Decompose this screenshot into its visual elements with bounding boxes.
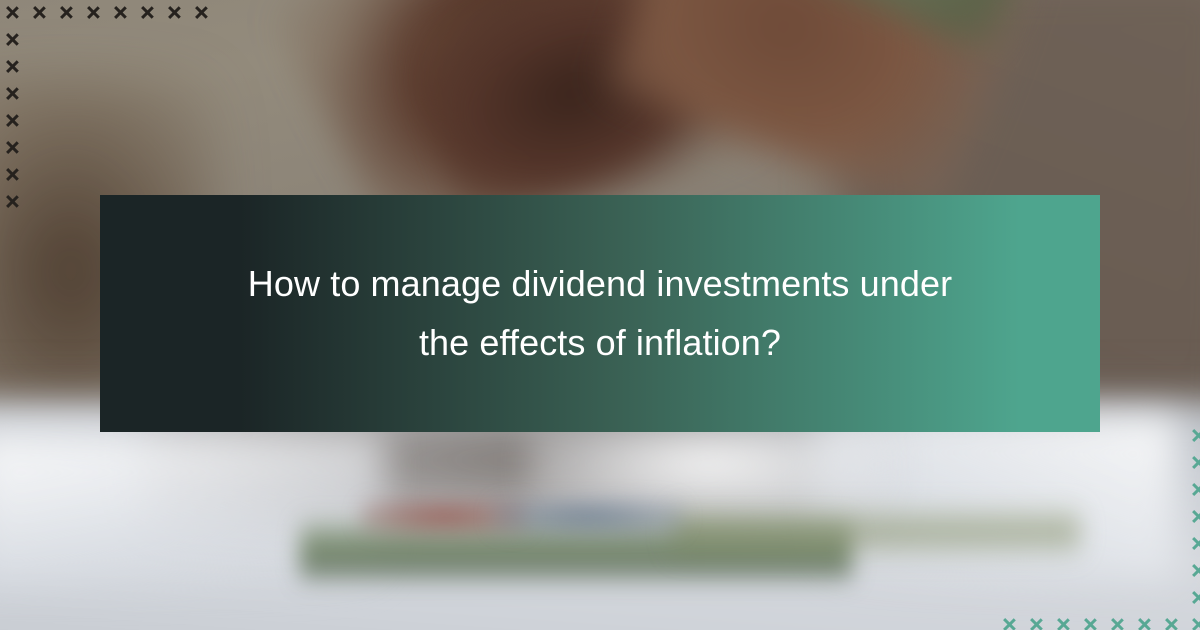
cross-x-icon bbox=[1029, 617, 1044, 630]
cross-x-icon bbox=[86, 5, 101, 20]
cross-x-icon bbox=[59, 5, 74, 20]
cross-x-icon bbox=[1110, 617, 1125, 630]
cross-x-icon bbox=[5, 113, 20, 128]
cross-x-icon bbox=[113, 5, 128, 20]
cross-x-icon bbox=[5, 5, 20, 20]
cross-x-icon bbox=[5, 59, 20, 74]
cross-x-icon bbox=[1191, 536, 1200, 551]
cross-x-icon bbox=[32, 5, 47, 20]
cross-x-icon bbox=[5, 86, 20, 101]
cross-x-icon bbox=[1191, 617, 1200, 630]
cross-x-icon bbox=[167, 5, 182, 20]
photo-banknote-blue bbox=[492, 498, 684, 536]
cross-x-icon bbox=[1002, 617, 1017, 630]
cross-x-icon bbox=[194, 5, 209, 20]
cross-x-icon bbox=[1083, 617, 1098, 630]
cross-x-icon bbox=[5, 140, 20, 155]
cross-x-icon bbox=[5, 32, 20, 47]
cross-x-icon bbox=[1164, 617, 1179, 630]
cross-x-icon bbox=[1137, 617, 1152, 630]
photo-banknotes-green-secondary bbox=[672, 504, 1080, 561]
cross-x-icon bbox=[1191, 509, 1200, 524]
title-banner: How to manage dividend investments under… bbox=[100, 195, 1100, 432]
cross-x-icon bbox=[1191, 590, 1200, 605]
cross-x-icon bbox=[1191, 563, 1200, 578]
page-title: How to manage dividend investments under… bbox=[220, 255, 980, 372]
cross-x-icon bbox=[1191, 428, 1200, 443]
cross-x-icon bbox=[5, 167, 20, 182]
cross-x-icon bbox=[1191, 455, 1200, 470]
cross-x-icon bbox=[1056, 617, 1071, 630]
cross-x-icon bbox=[5, 194, 20, 209]
cross-x-icon bbox=[1191, 482, 1200, 497]
share-card: How to manage dividend investments under… bbox=[0, 0, 1200, 630]
cross-x-icon bbox=[140, 5, 155, 20]
